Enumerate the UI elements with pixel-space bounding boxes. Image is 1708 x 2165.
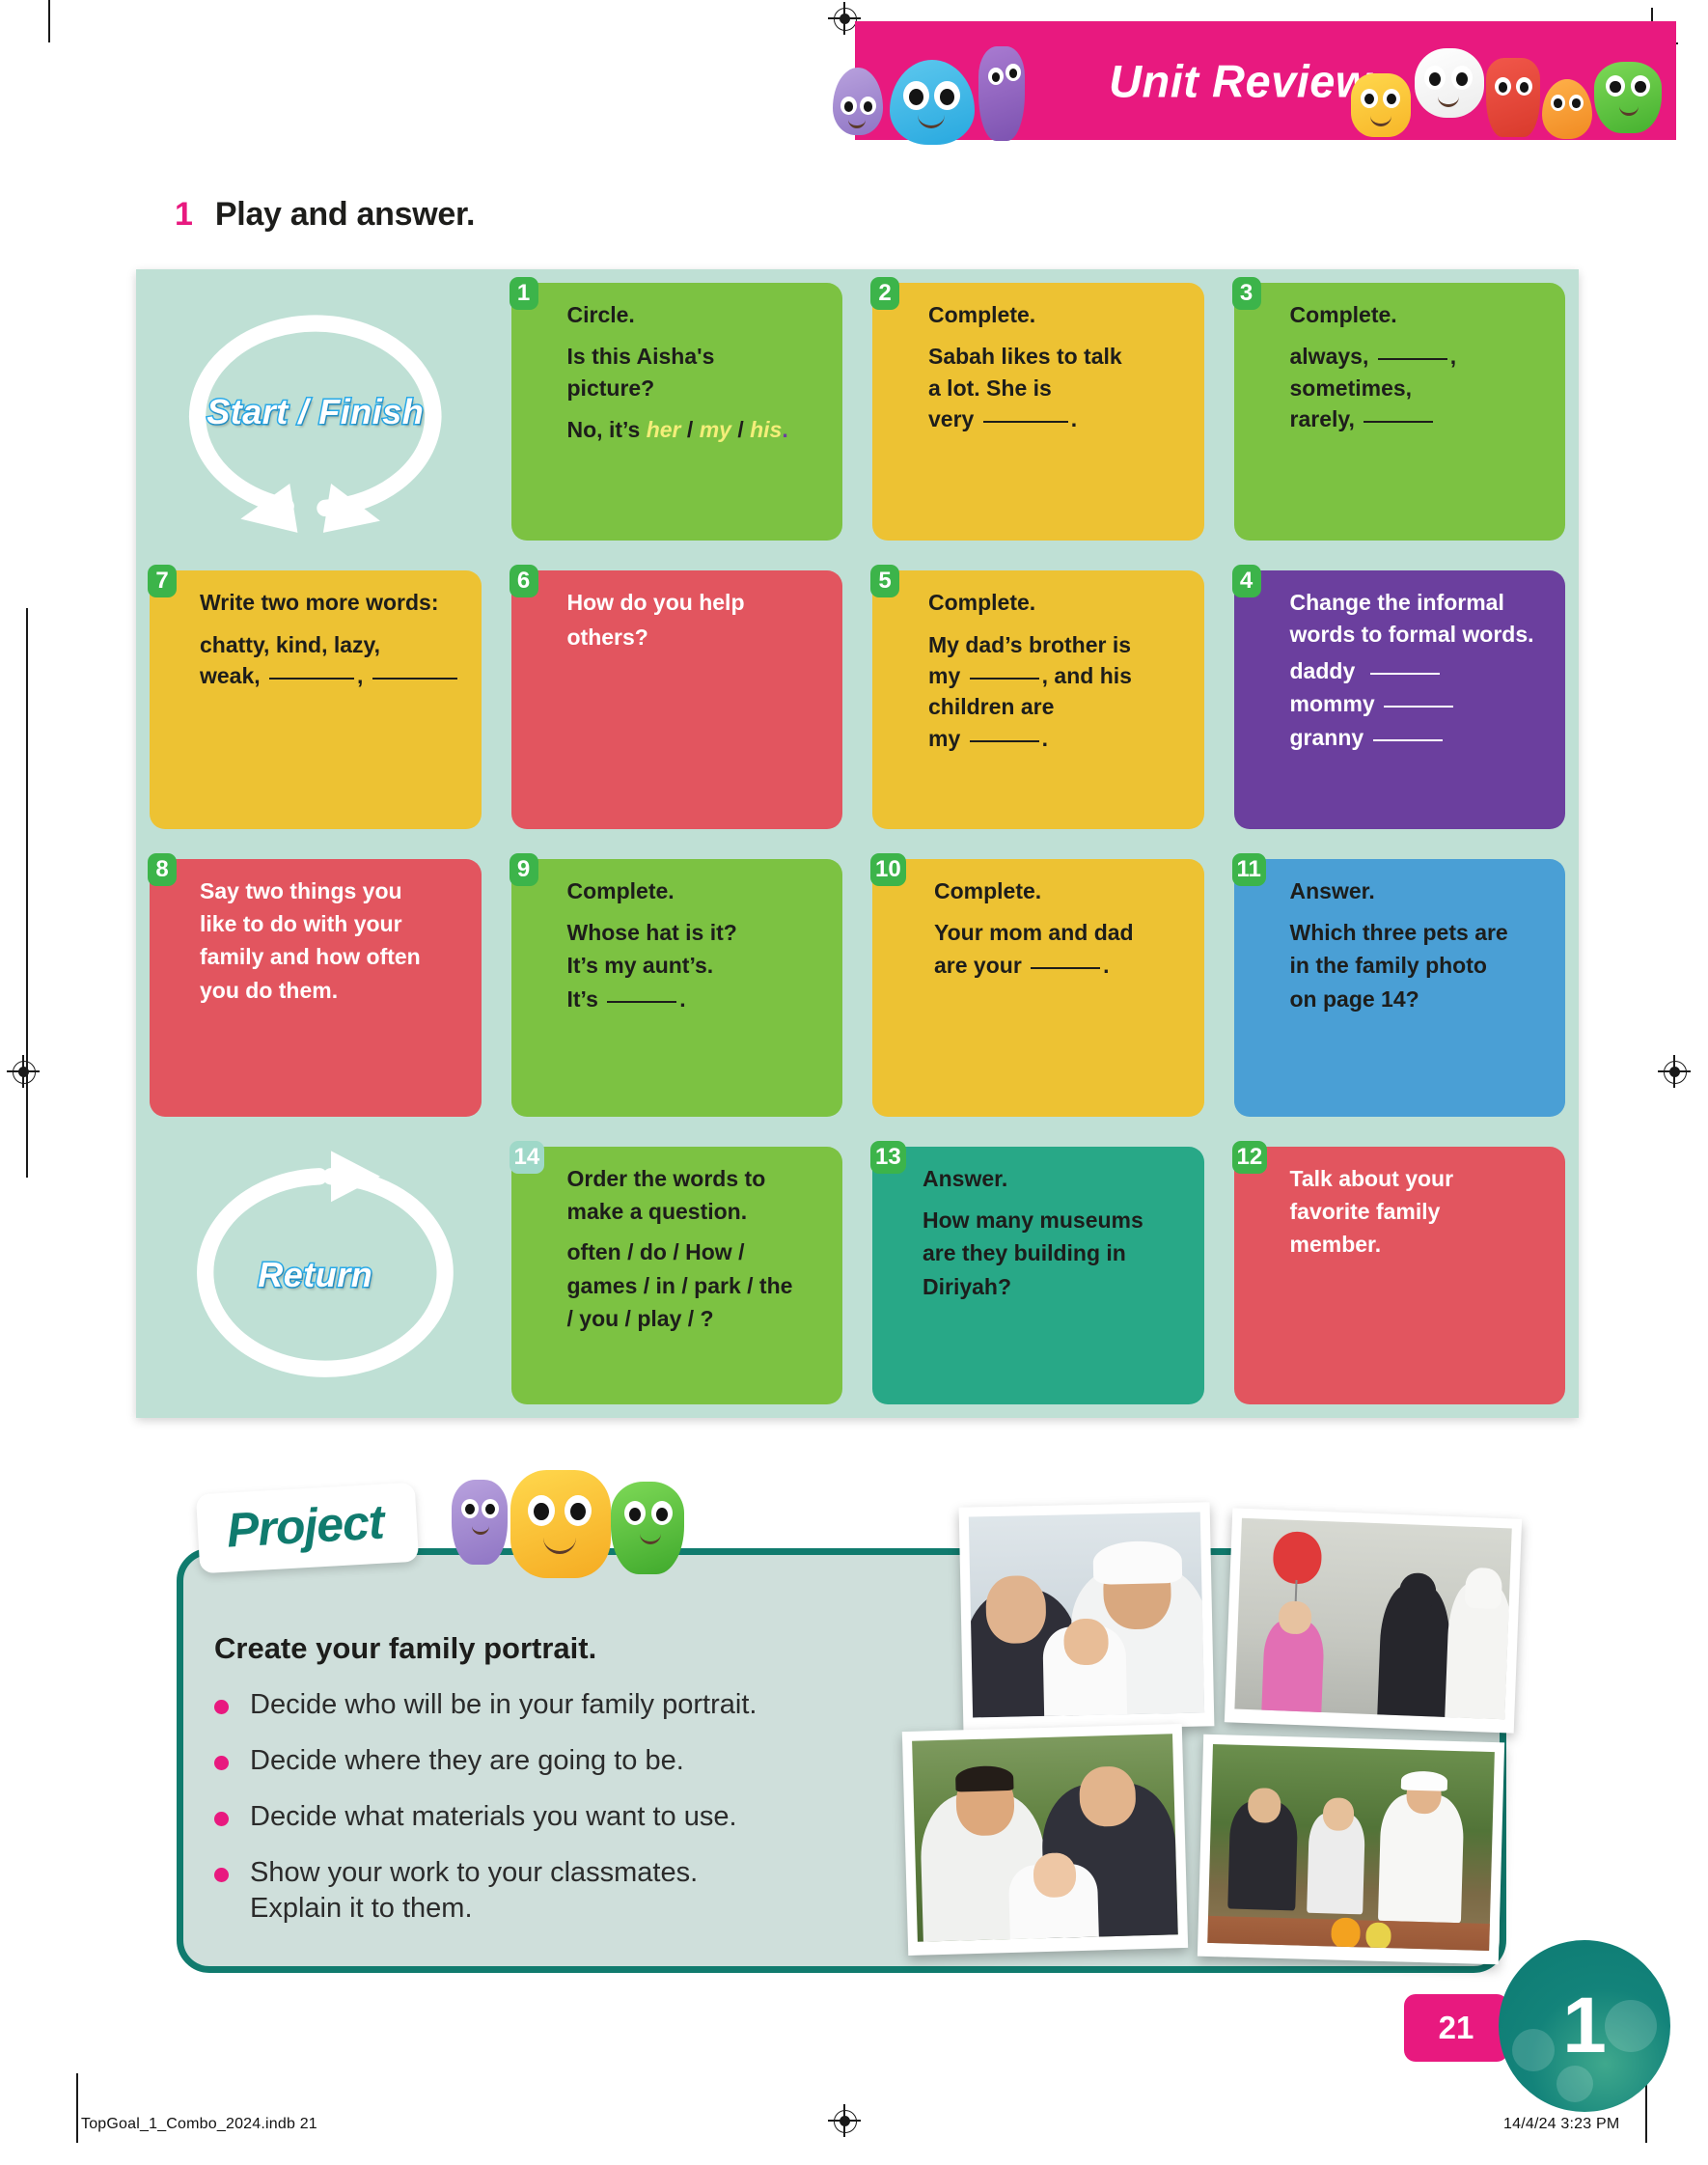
tile-badge: 7 [148,565,177,597]
bullet-dot-icon [214,1868,229,1882]
board-cell-3[interactable]: 3 Complete. always, , sometimes, rarely, [1221,269,1580,554]
list-item: Decide what materials you want to use. [214,1799,870,1835]
crop-mark-left-mid [26,608,28,1178]
tile-4-row-mommy: mommy [1290,689,1547,718]
page-number: 21 [1439,2010,1474,2046]
project-green-blob-icon [611,1482,684,1574]
tile-1: 1 Circle. Is this Aisha's picture? No, i… [511,283,843,541]
crop-mark-bottom-left [76,2073,78,2143]
exercise-number: 1 [175,196,193,234]
board-cell-14[interactable]: 14 Order the words to make a question. o… [498,1133,857,1418]
exercise-heading: 1 Play and answer. [175,196,475,234]
photo-image [969,1513,1204,1718]
family-photo-3 [902,1724,1188,1956]
tile-badge: 14 [510,1141,545,1174]
tile-9: 9 Complete. Whose hat is it? It’s my aun… [511,859,843,1117]
board-cell-6[interactable]: 6 How do you help others? [498,557,857,842]
board-cell-9[interactable]: 9 Complete. Whose hat is it? It’s my aun… [498,846,857,1130]
tile-3-line-1: always, , [1290,342,1547,371]
tile-10-blank-line: are your . [934,951,1185,980]
tile-badge: 10 [870,853,906,886]
tile-5: 5 Complete. My dad’s brother is my , and… [872,570,1204,828]
crop-mark-top-left [48,0,50,42]
board-cell-start: Start / Finish [136,269,495,554]
bullet-text: Show your work to your classmates. Expla… [250,1855,698,1927]
tile-4: 4 Change the informal words to formal wo… [1234,570,1566,828]
tile-5-blank-line-1: my , and his [928,661,1185,690]
board-game-grid: Start / Finish 1 Circle. Is this Aisha's… [136,269,1579,1418]
tile-badge: 2 [870,277,899,310]
tile-badge: 6 [510,565,538,597]
tile-badge: 5 [870,565,899,597]
project-purple-blob-icon [452,1480,508,1565]
yellow-star-icon [1351,73,1411,137]
board-cell-2[interactable]: 2 Complete. Sabah likes to talk a lot. S… [859,269,1218,554]
tile-badge: 9 [510,853,538,886]
project-yellow-star-icon [510,1470,611,1578]
bullet-dot-icon [214,1756,229,1770]
tile-text: How do you help others? [567,588,824,652]
registration-mark-bottom [828,2104,861,2137]
tile-badge: 8 [148,853,177,886]
bullet-text: Decide where they are going to be. [250,1743,684,1779]
tile-2-blank-line: very . [928,404,1185,433]
project-heading: Create your family portrait. [214,1631,596,1666]
tile-text: Write two more words: chatty, kind, lazy… [200,588,462,690]
unit-number: 1 [1562,1981,1607,2071]
board-cell-4[interactable]: 4 Change the informal words to formal wo… [1221,557,1580,842]
board-cell-5[interactable]: 5 Complete. My dad’s brother is my , and… [859,557,1218,842]
tile-text: Say two things you like to do with your … [200,876,462,1005]
project-bullet-list: Decide who will be in your family portra… [214,1687,870,1948]
tile-2: 2 Complete. Sabah likes to talk a lot. S… [872,283,1204,541]
project-tab: Project [196,1483,419,1574]
board-cell-11[interactable]: 11 Answer. Which three pets are in the f… [1221,846,1580,1130]
board-cell-12[interactable]: 12 Talk about your favorite family membe… [1221,1133,1580,1418]
bullet-text: Decide what materials you want to use. [250,1799,737,1835]
tile-text: Complete. Your mom and dad are your . [934,876,1185,981]
family-photo-2 [1225,1508,1522,1733]
textbook-page: Unit Review 1 Play and [0,0,1708,2165]
photo-image [912,1734,1178,1941]
tile-badge: 3 [1232,277,1261,310]
tile-1-answer-line: No, it’s her / my / his. [567,415,824,444]
footer-file-name: TopGoal_1_Combo_2024.indb 21 [81,2116,317,2133]
project-tab-label: Project [225,1495,384,1558]
tile-badge: 13 [870,1141,906,1174]
tile-8: 8 Say two things you like to do with you… [150,859,482,1117]
family-photo-4 [1198,1735,1504,1965]
return-label: Return [258,1255,372,1295]
page-number-badge: 21 [1404,1994,1508,2062]
green-blob-icon [1594,62,1662,133]
tile-badge: 1 [510,277,538,310]
tile-text: Circle. Is this Aisha's picture? No, it’… [567,300,824,444]
list-item: Decide who will be in your family portra… [214,1687,870,1723]
tile-badge: 12 [1232,1141,1268,1174]
tile-7: 7 Write two more words: chatty, kind, la… [150,570,482,828]
bullet-text: Decide who will be in your family portra… [250,1687,757,1723]
tile-6: 6 How do you help others? [511,570,843,828]
registration-mark-right [1658,1055,1691,1088]
board-cell-return: Return [136,1133,495,1418]
board-cell-8[interactable]: 8 Say two things you like to do with you… [136,846,495,1130]
list-item: Show your work to your classmates. Expla… [214,1855,870,1927]
white-blob-icon [1415,48,1484,118]
tile-text: Talk about your favorite family member. [1290,1164,1547,1260]
tile-text: Answer. How many museums are they buildi… [923,1164,1185,1301]
tile-text: Complete. Whose hat is it? It’s my aunt’… [567,876,824,1013]
family-photo-1 [959,1502,1215,1731]
board-cell-13[interactable]: 13 Answer. How many museums are they bui… [859,1133,1218,1418]
exercise-title: Play and answer. [215,196,475,234]
tile-3-line-3: rarely, [1290,404,1547,433]
tile-13: 13 Answer. How many museums are they bui… [872,1147,1204,1404]
tile-5-blank-line-2: my . [928,724,1185,753]
tile-10: 10 Complete. Your mom and dad are your . [872,859,1204,1117]
tile-3: 3 Complete. always, , sometimes, rarely, [1234,283,1566,541]
tile-9-blank-line: It’s . [567,985,824,1013]
start-finish-label: Start / Finish [207,392,424,432]
tile-7-blank-line: weak, , [200,661,462,690]
red-blob-icon [1486,58,1540,137]
tile-badge: 11 [1232,853,1266,886]
tile-text: Complete. Sabah likes to talk a lot. She… [928,300,1185,433]
tile-12: 12 Talk about your favorite family membe… [1234,1147,1566,1404]
bullet-dot-icon [214,1812,229,1826]
registration-mark-left [7,1055,40,1088]
board-cell-7[interactable]: 7 Write two more words: chatty, kind, la… [136,557,495,842]
tile-text: Answer. Which three pets are in the fami… [1290,876,1547,1013]
list-item: Decide where they are going to be. [214,1743,870,1779]
tile-badge: 4 [1232,565,1261,597]
tile-4-row-granny: granny [1290,723,1547,752]
photo-image [1207,1744,1495,1951]
tile-text: Complete. always, , sometimes, rarely, [1290,300,1547,433]
tile-text: Change the informal words to formal word… [1290,588,1547,752]
banner-title: Unit Review [1109,54,1371,107]
tile-4-row-daddy: daddy [1290,656,1547,685]
bullet-dot-icon [214,1700,229,1714]
unit-number-circle: 1 [1499,1940,1670,2112]
tile-text: Order the words to make a question. ofte… [567,1164,824,1334]
board-cell-1[interactable]: 1 Circle. Is this Aisha's picture? No, i… [498,269,857,554]
tile-text: Complete. My dad’s brother is my , and h… [928,588,1185,753]
photo-image [1234,1518,1511,1720]
board-cell-10[interactable]: 10 Complete. Your mom and dad are your . [859,846,1218,1130]
footer-timestamp: 14/4/24 3:23 PM [1503,2116,1619,2133]
tile-14: 14 Order the words to make a question. o… [511,1147,843,1404]
tile-11: 11 Answer. Which three pets are in the f… [1234,859,1566,1117]
purple-worm-icon [978,46,1025,141]
